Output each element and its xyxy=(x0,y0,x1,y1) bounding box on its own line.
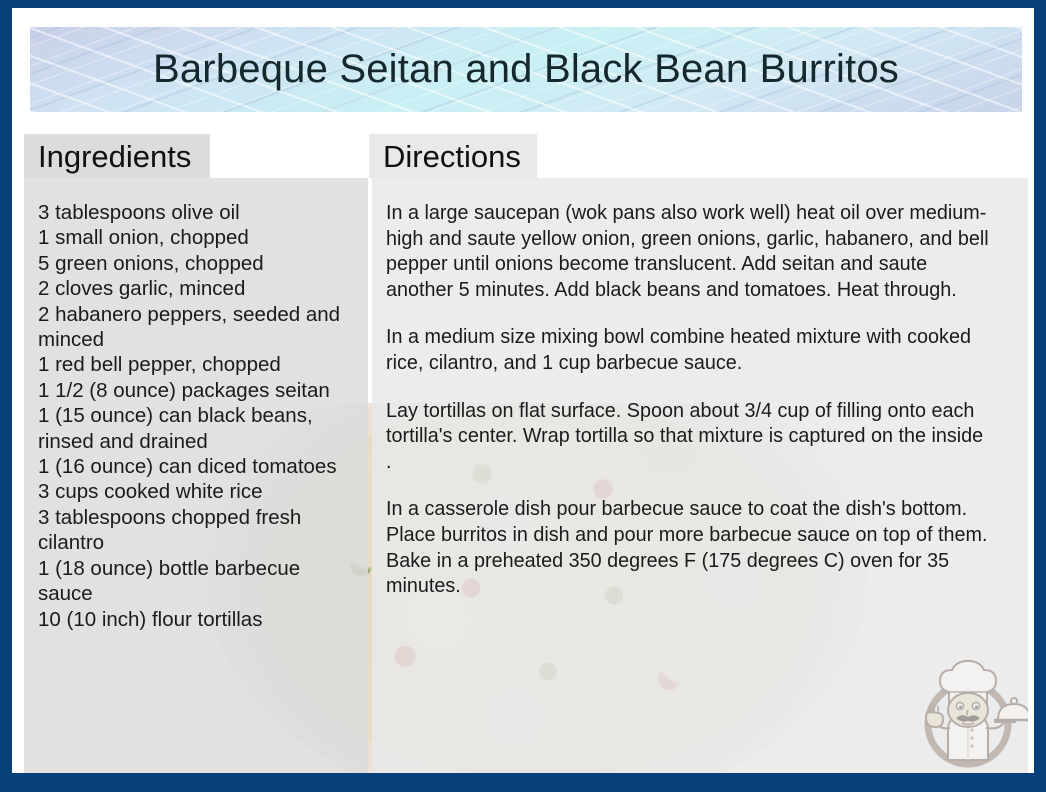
ingredient-item: 1 (15 ounce) can black beans, rinsed and… xyxy=(38,403,354,454)
tab-ingredients[interactable]: Ingredients xyxy=(24,134,210,178)
recipe-page: Barbeque Seitan and Black Bean Burritos … xyxy=(12,8,1034,773)
ingredient-item: 1 1/2 (8 ounce) packages seitan xyxy=(38,378,354,403)
directions-steps: In a large saucepan (wok pans also work … xyxy=(386,200,1014,599)
ingredients-list: 3 tablespoons olive oil1 small onion, ch… xyxy=(38,200,354,632)
chef-mascot-logo xyxy=(908,656,1028,773)
title-banner: Barbeque Seitan and Black Bean Burritos xyxy=(30,27,1022,112)
ingredient-item: 1 (16 ounce) can diced tomatoes xyxy=(38,454,354,479)
ingredient-item: 2 cloves garlic, minced xyxy=(38,276,354,301)
ingredient-item: 1 small onion, chopped xyxy=(38,225,354,250)
ingredient-item: 10 (10 inch) flour tortillas xyxy=(38,607,354,632)
ingredient-item: 1 red bell pepper, chopped xyxy=(38,352,354,377)
tab-directions[interactable]: Directions xyxy=(369,134,537,178)
direction-step: Lay tortillas on flat surface. Spoon abo… xyxy=(386,398,992,475)
tab-ingredients-label: Ingredients xyxy=(38,139,191,175)
ingredients-panel: 3 tablespoons olive oil1 small onion, ch… xyxy=(24,178,368,773)
ingredient-item: 3 cups cooked white rice xyxy=(38,479,354,504)
direction-step: In a large saucepan (wok pans also work … xyxy=(386,200,992,302)
ingredient-item: 1 (18 ounce) bottle barbecue sauce xyxy=(38,556,354,607)
tab-directions-label: Directions xyxy=(383,139,521,175)
ingredient-item: 5 green onions, chopped xyxy=(38,251,354,276)
ingredient-item: 2 habanero peppers, seeded and minced xyxy=(38,302,354,353)
direction-step: In a casserole dish pour barbecue sauce … xyxy=(386,496,992,598)
ingredient-item: 3 tablespoons olive oil xyxy=(38,200,354,225)
ingredient-item: 3 tablespoons chopped fresh cilantro xyxy=(38,505,354,556)
direction-step: In a medium size mixing bowl combine hea… xyxy=(386,324,992,375)
recipe-card: Barbeque Seitan and Black Bean Burritos … xyxy=(0,0,1046,792)
recipe-title: Barbeque Seitan and Black Bean Burritos xyxy=(153,47,899,92)
